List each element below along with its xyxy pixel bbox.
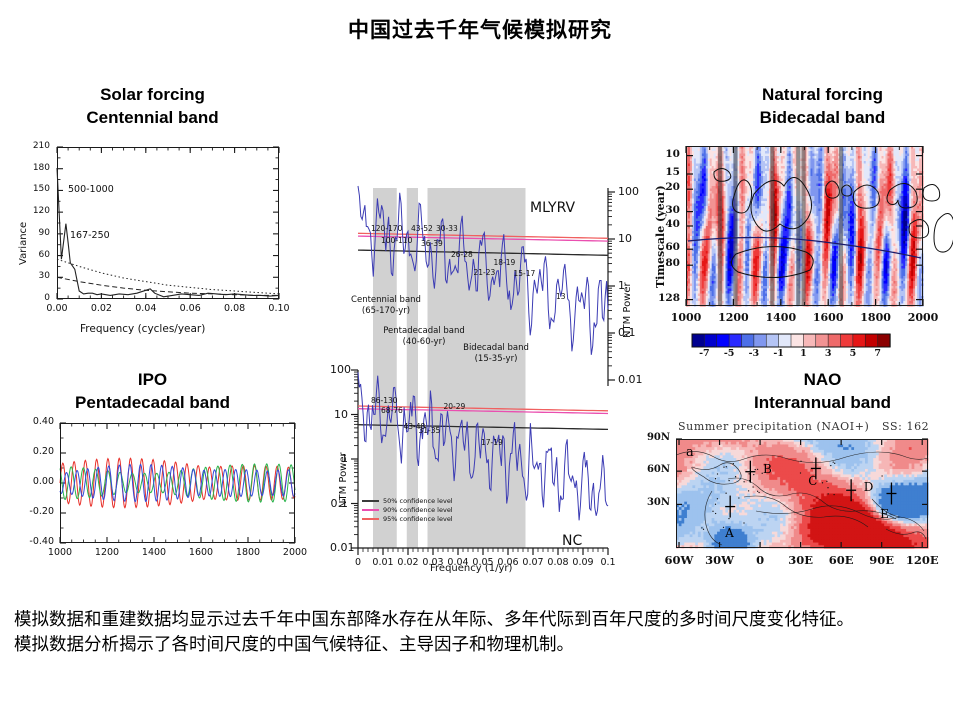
legend-item-2: 95% confidence level bbox=[362, 514, 453, 523]
ipo-xtick-0: 1000 bbox=[38, 547, 82, 558]
band-pentadecadal-name: Pentadecadal band bbox=[366, 326, 482, 337]
solar-ytick-0: 0 bbox=[10, 293, 50, 303]
summary-line-1: 模拟数据和重建数据均显示过去千年中国东部降水存在从年际、多年代际到百年尺度的多时… bbox=[14, 608, 946, 633]
solar-xtick-3: 0.06 bbox=[170, 303, 210, 314]
legend-label-1: 90% confidence level bbox=[383, 506, 453, 514]
nc-peak-1: 68-76 bbox=[381, 406, 403, 415]
slide-root: 中国过去千年气候模拟研究 Solar forcing Centennial ba… bbox=[0, 0, 960, 720]
legend-swatch-2 bbox=[362, 518, 379, 520]
legend-swatch-1 bbox=[362, 509, 379, 511]
panel-header-natural: Natural forcing Bidecadal band bbox=[690, 83, 955, 130]
confidence-legend: 50% confidence level90% confidence level… bbox=[362, 496, 453, 523]
colorbar-tick-3: -1 bbox=[770, 348, 788, 359]
chart-nao-summer-precip: Summer precipitation (NAOI+) SS: 162 90N… bbox=[636, 415, 956, 585]
panel-header-nao: NAO Interannual band bbox=[690, 368, 955, 415]
ipo-plot-frame bbox=[60, 423, 295, 543]
chart-ntm-power-spectra: MLYRV NC Centennial band (65-170-yr) Pen… bbox=[330, 178, 630, 578]
panel-header-nao-line2: Interannual band bbox=[690, 391, 955, 414]
nc-ytick-4: 0.01 bbox=[330, 541, 348, 554]
nc-peak-3: 31-35 bbox=[419, 426, 441, 435]
nao-region-A: A bbox=[725, 526, 734, 540]
colorbar-tick-2: -3 bbox=[745, 348, 763, 359]
nc-xtick-10: 0.1 bbox=[594, 557, 622, 568]
panel-header-ipo: IPO Pentadecadal band bbox=[20, 368, 285, 415]
nao-region-D: D bbox=[864, 480, 874, 494]
wavelet-xtick-3: 1600 bbox=[805, 311, 851, 324]
nc-region-label: NC bbox=[562, 533, 582, 549]
wavelet-xtick-5: 2000 bbox=[900, 311, 946, 324]
wavelet-xtick-2: 1400 bbox=[758, 311, 804, 324]
solar-ytick-4: 120 bbox=[10, 206, 50, 216]
wavelet-ytick-0: 10 bbox=[648, 148, 680, 160]
nao-xtick-1: 30W bbox=[697, 553, 743, 567]
legend-label-2: 95% confidence level bbox=[383, 515, 453, 523]
nao-map-frame bbox=[676, 439, 928, 548]
wavelet-ytick-1: 15 bbox=[648, 166, 680, 178]
legend-label-0: 50% confidence level bbox=[383, 497, 453, 505]
wavelet-ytick-7: 128 bbox=[648, 292, 680, 304]
solar-spectrum-svg bbox=[10, 140, 300, 370]
band-label-centennial: Centennial band (65-170-yr) bbox=[336, 295, 436, 316]
panel-header-natural-line1: Natural forcing bbox=[690, 83, 955, 106]
solar-xtick-1: 0.02 bbox=[81, 303, 121, 314]
panel-header-solar-line2: Centennial band bbox=[20, 106, 285, 129]
nc-xtick-1: 0.01 bbox=[369, 557, 397, 568]
solar-ytick-6: 180 bbox=[10, 163, 50, 173]
wavelet-xtick-4: 1800 bbox=[853, 311, 899, 324]
nc-xtick-2: 0.02 bbox=[394, 557, 422, 568]
colorbar-tick-6: 5 bbox=[844, 348, 862, 359]
band-label-bidecadal: Bidecadal band (15-35-yr) bbox=[442, 343, 550, 364]
mlyrv-peak-2: 43-52 bbox=[411, 224, 433, 233]
nao-ytick-0: 90N bbox=[636, 432, 670, 443]
ipo-xtick-3: 1600 bbox=[179, 547, 223, 558]
nao-xtick-0: 60W bbox=[656, 553, 702, 567]
mlyrv-region-label: MLYRV bbox=[530, 200, 575, 216]
solar-xtick-2: 0.04 bbox=[126, 303, 166, 314]
nc-x-axis-title: Frequency (1/yr) bbox=[430, 563, 512, 574]
nao-panel-letter: a bbox=[686, 445, 694, 460]
solar-xtick-4: 0.08 bbox=[215, 303, 255, 314]
ipo-ytick-1: 0.20 bbox=[10, 446, 54, 457]
ipo-xtick-1: 1200 bbox=[85, 547, 129, 558]
nc-peak-5: 17-19 bbox=[481, 438, 503, 447]
wavelet-xtick-1: 1200 bbox=[710, 311, 756, 324]
summary-line-2: 模拟数据分析揭示了各时间尺度的中国气候特征、主导因子和物理机制。 bbox=[14, 633, 946, 658]
nao-ytick-1: 60N bbox=[636, 464, 670, 475]
mlyrv-peak-3: 36-39 bbox=[421, 239, 443, 248]
nc-peak-4: 20-29 bbox=[444, 402, 466, 411]
mlyrv-peak-0: 120-170 bbox=[371, 224, 402, 233]
wavelet-y-axis-title: Timescale (year) bbox=[654, 185, 667, 288]
wavelet-xtick-0: 1000 bbox=[663, 311, 709, 324]
ipo-ytick-4: -0.40 bbox=[10, 536, 54, 547]
nc-y-axis-title: NTM Power bbox=[338, 452, 349, 508]
solar-ytick-7: 210 bbox=[10, 141, 50, 151]
mlyrv-peak-1: 100-110 bbox=[381, 236, 412, 245]
solar-ytick-5: 150 bbox=[10, 184, 50, 194]
solar-peak-label-1: 167-250 bbox=[70, 230, 110, 241]
solar-ytick-3: 90 bbox=[10, 228, 50, 238]
band-bidecadal-range: (15-35-yr) bbox=[442, 354, 550, 365]
mlyrv-peak-6: 21-23 bbox=[474, 268, 496, 277]
nc-ytick-0: 100 bbox=[330, 363, 348, 376]
nao-region-B: B bbox=[763, 462, 772, 476]
mlyrv-ytick-1: 10 bbox=[618, 232, 632, 245]
mlyrv-peak-9: 13 bbox=[556, 292, 566, 301]
page-title: 中国过去千年气候模拟研究 bbox=[0, 14, 960, 44]
panel-header-natural-line2: Bidecadal band bbox=[690, 106, 955, 129]
legend-swatch-0 bbox=[362, 500, 379, 502]
nao-xtick-3: 30E bbox=[778, 553, 824, 567]
summary-text: 模拟数据和重建数据均显示过去千年中国东部降水存在从年际、多年代际到百年尺度的多时… bbox=[14, 608, 946, 658]
panel-header-ipo-line2: Pentadecadal band bbox=[20, 391, 285, 414]
solar-peak-label-0: 500-1000 bbox=[68, 184, 114, 195]
panel-header-ipo-line1: IPO bbox=[20, 368, 285, 391]
ipo-ytick-3: -0.20 bbox=[10, 506, 54, 517]
solar-ytick-1: 30 bbox=[10, 271, 50, 281]
solar-y-axis-title: Variance bbox=[18, 222, 29, 265]
nc-ytick-1: 10 bbox=[330, 408, 348, 421]
nao-xtick-5: 90E bbox=[859, 553, 905, 567]
colorbar-tick-1: -5 bbox=[720, 348, 738, 359]
solar-x-axis-title: Frequency (cycles/year) bbox=[80, 323, 205, 335]
nc-peak-0: 86-130 bbox=[371, 396, 398, 405]
mlyrv-peak-8: 15-17 bbox=[514, 269, 536, 278]
colorbar-tick-5: 3 bbox=[819, 348, 837, 359]
nao-xtick-4: 60E bbox=[818, 553, 864, 567]
mlyrv-peak-5: 26-28 bbox=[451, 250, 473, 259]
chart-solar-spectrum: 0306090120150180210 0.000.020.040.060.08… bbox=[10, 140, 300, 370]
mlyrv-peak-4: 30-33 bbox=[436, 224, 458, 233]
solar-ytick-2: 60 bbox=[10, 250, 50, 260]
chart-natural-forcing-wavelet: 10152030406080128 1000120014001600180020… bbox=[648, 140, 953, 365]
mlyrv-ytick-4: 0.01 bbox=[618, 373, 643, 386]
mlyrv-ytick-0: 100 bbox=[618, 185, 639, 198]
band-centennial-range: (65-170-yr) bbox=[336, 306, 436, 317]
panel-header-solar: Solar forcing Centennial band bbox=[20, 83, 285, 130]
colorbar-tick-7: 7 bbox=[869, 348, 887, 359]
ipo-ytick-0: 0.40 bbox=[10, 416, 54, 427]
nc-xtick-8: 0.08 bbox=[544, 557, 572, 568]
nc-xtick-0: 0 bbox=[344, 557, 372, 568]
band-centennial-name: Centennial band bbox=[336, 295, 436, 306]
nao-xtick-6: 120E bbox=[899, 553, 945, 567]
nc-xtick-9: 0.09 bbox=[569, 557, 597, 568]
chart-ipo-pentadecadal: 0.400.200.00-0.20-0.40 10001200140016001… bbox=[10, 418, 310, 583]
nao-ytick-2: 30N bbox=[636, 497, 670, 508]
mlyrv-peak-7: 18-19 bbox=[494, 258, 516, 267]
panel-header-nao-line1: NAO bbox=[690, 368, 955, 391]
ipo-xtick-2: 1400 bbox=[132, 547, 176, 558]
band-bidecadal-name: Bidecadal band bbox=[442, 343, 550, 354]
ipo-xtick-5: 2000 bbox=[273, 547, 317, 558]
ipo-xtick-4: 1800 bbox=[226, 547, 270, 558]
colorbar-tick-4: 1 bbox=[794, 348, 812, 359]
panel-header-solar-line1: Solar forcing bbox=[20, 83, 285, 106]
colorbar-tick-0: -7 bbox=[695, 348, 713, 359]
ipo-ytick-2: 0.00 bbox=[10, 476, 54, 487]
nao-region-E: E bbox=[880, 507, 889, 521]
nao-xtick-2: 0 bbox=[737, 553, 783, 567]
mlyrv-y-axis-title: NTM Power bbox=[622, 282, 633, 338]
nc-xtick-7: 0.07 bbox=[519, 557, 547, 568]
wavelet-plot-frame bbox=[686, 146, 923, 306]
legend-item-1: 90% confidence level bbox=[362, 505, 453, 514]
nao-region-C: C bbox=[808, 474, 817, 488]
solar-xtick-0: 0.00 bbox=[37, 303, 77, 314]
legend-item-0: 50% confidence level bbox=[362, 496, 453, 505]
solar-xtick-5: 0.10 bbox=[259, 303, 299, 314]
